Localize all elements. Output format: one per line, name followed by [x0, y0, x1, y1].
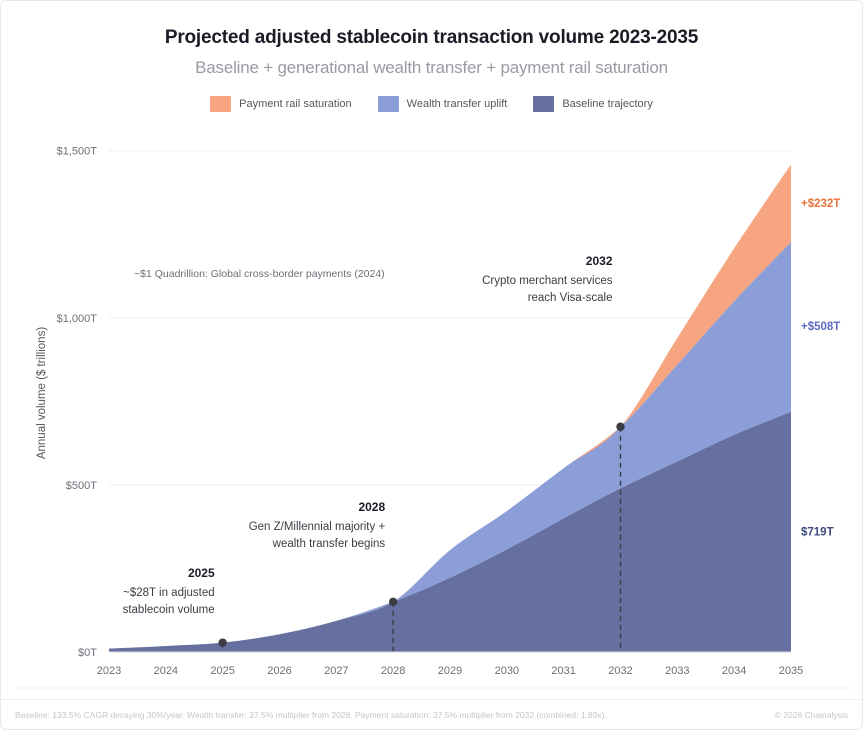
legend-item[interactable]: Baseline trajectory: [533, 96, 653, 112]
x-axis-tick-label: 2035: [779, 665, 803, 677]
x-axis-tick-label: 2034: [722, 665, 746, 677]
x-axis-tick-label: 2027: [324, 665, 348, 677]
x-axis-tick-label: 2031: [551, 665, 575, 677]
y-axis-title: Annual volume ($ trillions): [36, 327, 48, 459]
annotation-text-line: wealth transfer begins: [272, 538, 386, 550]
annotation-marker-dot[interactable]: [218, 638, 226, 646]
legend-item[interactable]: Payment rail saturation: [210, 96, 352, 112]
footer-credit: © 2026 Chainalysis: [775, 710, 848, 720]
reference-note: ~$1 Quadrillion: Global cross-border pay…: [134, 268, 385, 280]
legend-swatch: [378, 96, 399, 112]
legend-label: Baseline trajectory: [562, 98, 653, 110]
x-axis-tick-label: 2023: [97, 665, 121, 677]
legend-label: Wealth transfer uplift: [407, 98, 508, 110]
annotation-marker-dot[interactable]: [616, 423, 624, 431]
annotation-text-line: Gen Z/Millennial majority +: [249, 521, 386, 533]
chart-legend: Payment rail saturationWealth transfer u…: [1, 96, 862, 112]
plot-area: $0T$500T$1,000T$1,500TAnnual volume ($ t…: [1, 122, 862, 702]
y-axis-tick-label: $1,500T: [57, 146, 98, 158]
x-axis-tick-label: 2032: [608, 665, 632, 677]
annotation-text-line: stablecoin volume: [123, 604, 215, 616]
y-axis-tick-label: $0T: [78, 647, 97, 659]
annotation-year-label: 2032: [586, 254, 613, 268]
series-end-label: $719T: [801, 527, 834, 539]
area-chart: $0T$500T$1,000T$1,500TAnnual volume ($ t…: [1, 122, 863, 702]
chart-footer: Baseline: 133.5% CAGR decaying 30%/year.…: [1, 699, 862, 729]
annotation-text-line: reach Visa-scale: [528, 292, 613, 304]
x-axis-tick-label: 2024: [154, 665, 178, 677]
y-axis-tick-label: $500T: [66, 480, 97, 492]
series-end-label: +$232T: [801, 198, 840, 210]
page-subtitle: Baseline + generational wealth transfer …: [1, 58, 862, 78]
chart-card: Projected adjusted stablecoin transactio…: [0, 0, 863, 730]
annotation-text-line: Crypto merchant services: [482, 275, 613, 287]
y-axis-tick-label: $1,000T: [57, 313, 98, 325]
page-title: Projected adjusted stablecoin transactio…: [1, 27, 862, 49]
annotation-year-label: 2028: [358, 500, 385, 514]
legend-item[interactable]: Wealth transfer uplift: [378, 96, 508, 112]
x-axis-tick-label: 2030: [495, 665, 519, 677]
annotation-text-line: ~$28T in adjusted: [123, 587, 215, 599]
x-axis-tick-label: 2026: [267, 665, 291, 677]
annotation-year-label: 2025: [188, 566, 215, 580]
x-axis-tick-label: 2029: [438, 665, 462, 677]
x-axis-tick-label: 2025: [210, 665, 234, 677]
series-end-label: +$508T: [801, 321, 840, 333]
x-axis-tick-label: 2033: [665, 665, 689, 677]
legend-swatch: [210, 96, 231, 112]
legend-label: Payment rail saturation: [239, 98, 352, 110]
annotation-marker-dot[interactable]: [389, 598, 397, 606]
footer-methodology-note: Baseline: 133.5% CAGR decaying 30%/year.…: [15, 710, 607, 720]
x-axis-tick-label: 2028: [381, 665, 405, 677]
legend-swatch: [533, 96, 554, 112]
